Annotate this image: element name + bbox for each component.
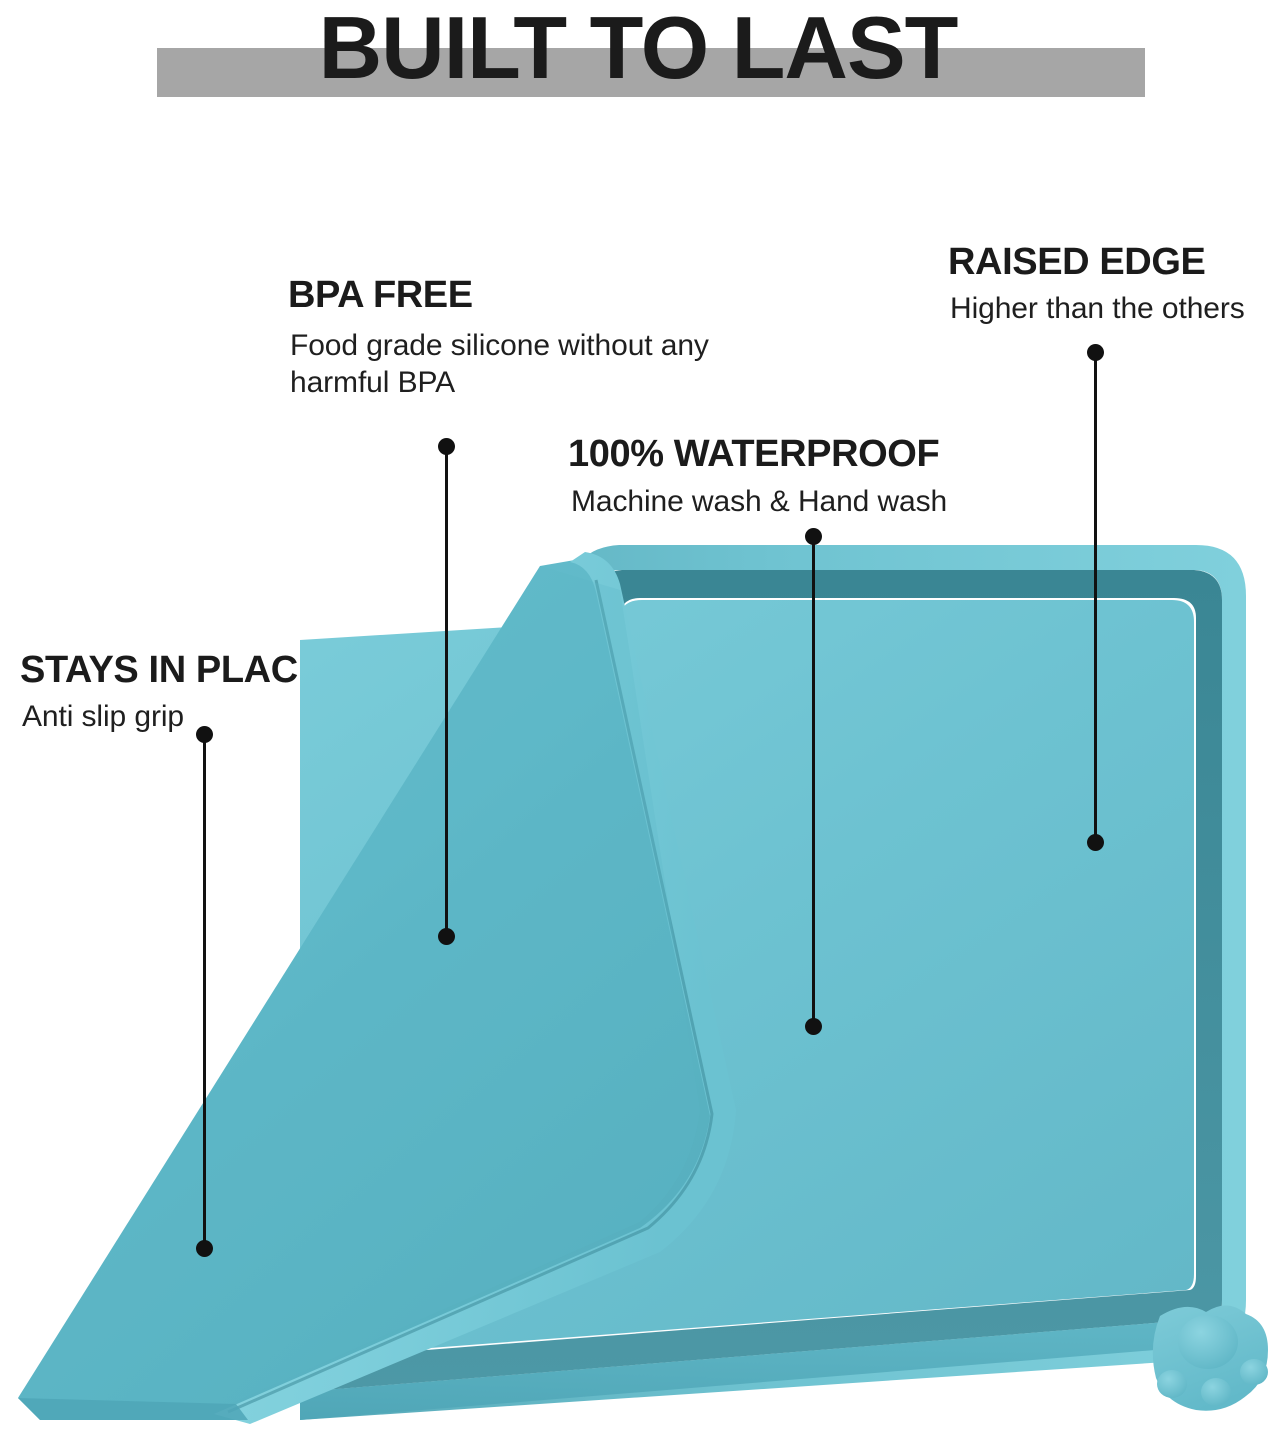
product-illustration (0, 0, 1276, 1456)
leader-line-stays-in-place (203, 738, 206, 1250)
paw-print-tab (1153, 1305, 1268, 1410)
leader-line-waterproof (812, 540, 815, 1028)
leader-dot-bpa-top (438, 438, 455, 455)
leader-line-bpa-free (445, 450, 448, 938)
leader-dot-raised-top (1087, 344, 1104, 361)
leader-dot-stays-bottom (196, 1240, 213, 1257)
leader-dot-raised-bottom (1087, 834, 1104, 851)
leader-dot-stays-top (196, 726, 213, 743)
leader-dot-waterproof-top (805, 528, 822, 545)
leader-dot-bpa-bottom (438, 928, 455, 945)
infographic-canvas: BUILT TO LAST (0, 0, 1276, 1456)
leader-line-raised-edge (1094, 356, 1097, 844)
leader-dot-waterproof-bottom (805, 1018, 822, 1035)
